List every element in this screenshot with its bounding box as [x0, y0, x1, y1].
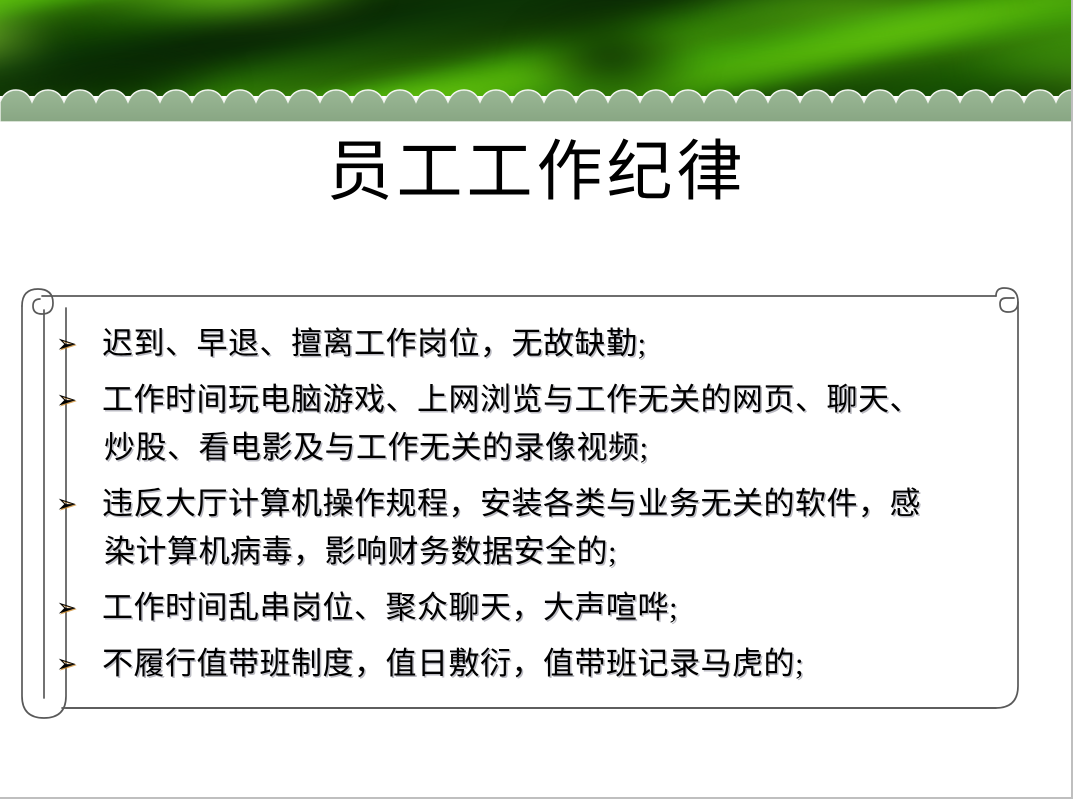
- arrow-bullet-icon: ➢: [56, 480, 102, 528]
- scalloped-divider-band: [0, 88, 1073, 122]
- arrow-bullet-icon: ➢: [56, 584, 102, 632]
- list-item: ➢ 违反大厅计算机操作规程，安装各类与业务无关的软件，感 染计算机病毒，影响财务…: [56, 480, 1006, 576]
- list-item-text: 迟到、早退、擅离工作岗位，无故缺勤;: [102, 320, 1006, 368]
- arrow-bullet-icon: ➢: [56, 320, 102, 368]
- discipline-rules-list: ➢ 迟到、早退、擅离工作岗位，无故缺勤; ➢ 工作时间玩电脑游戏、上网浏览与工作…: [56, 320, 1006, 696]
- list-item-line: 不履行值带班制度，值日敷衍，值带班记录马虎的;: [102, 640, 1006, 688]
- arrow-bullet-icon: ➢: [56, 376, 102, 424]
- presentation-slide: 员工工作纪律 ➢ 迟到、早退、: [0, 0, 1073, 799]
- list-item-line: 工作时间玩电脑游戏、上网浏览与工作无关的网页、聊天、: [102, 376, 1006, 424]
- list-item-line: 染计算机病毒，影响财务数据安全的;: [104, 528, 1006, 576]
- list-item: ➢ 工作时间乱串岗位、聚众聊天，大声喧哗;: [56, 584, 1006, 632]
- slide-title: 员工工作纪律: [0, 130, 1073, 216]
- list-item-text: 违反大厅计算机操作规程，安装各类与业务无关的软件，感 染计算机病毒，影响财务数据…: [102, 480, 1006, 576]
- arrow-bullet-icon: ➢: [56, 640, 102, 688]
- list-item: ➢ 迟到、早退、擅离工作岗位，无故缺勤;: [56, 320, 1006, 368]
- green-foliage-banner: [0, 0, 1073, 96]
- list-item: ➢ 工作时间玩电脑游戏、上网浏览与工作无关的网页、聊天、 炒股、看电影及与工作无…: [56, 376, 1006, 472]
- list-item-text: 不履行值带班制度，值日敷衍，值带班记录马虎的;: [102, 640, 1006, 688]
- list-item-line: 违反大厅计算机操作规程，安装各类与业务无关的软件，感: [102, 480, 1006, 528]
- list-item-line: 工作时间乱串岗位、聚众聊天，大声喧哗;: [102, 584, 1006, 632]
- list-item-line: 炒股、看电影及与工作无关的录像视频;: [104, 424, 1006, 472]
- list-item-text: 工作时间玩电脑游戏、上网浏览与工作无关的网页、聊天、 炒股、看电影及与工作无关的…: [102, 376, 1006, 472]
- list-item: ➢ 不履行值带班制度，值日敷衍，值带班记录马虎的;: [56, 640, 1006, 688]
- list-item-line: 迟到、早退、擅离工作岗位，无故缺勤;: [102, 320, 1006, 368]
- list-item-text: 工作时间乱串岗位、聚众聊天，大声喧哗;: [102, 584, 1006, 632]
- banner-highlight-layer: [0, 0, 1073, 96]
